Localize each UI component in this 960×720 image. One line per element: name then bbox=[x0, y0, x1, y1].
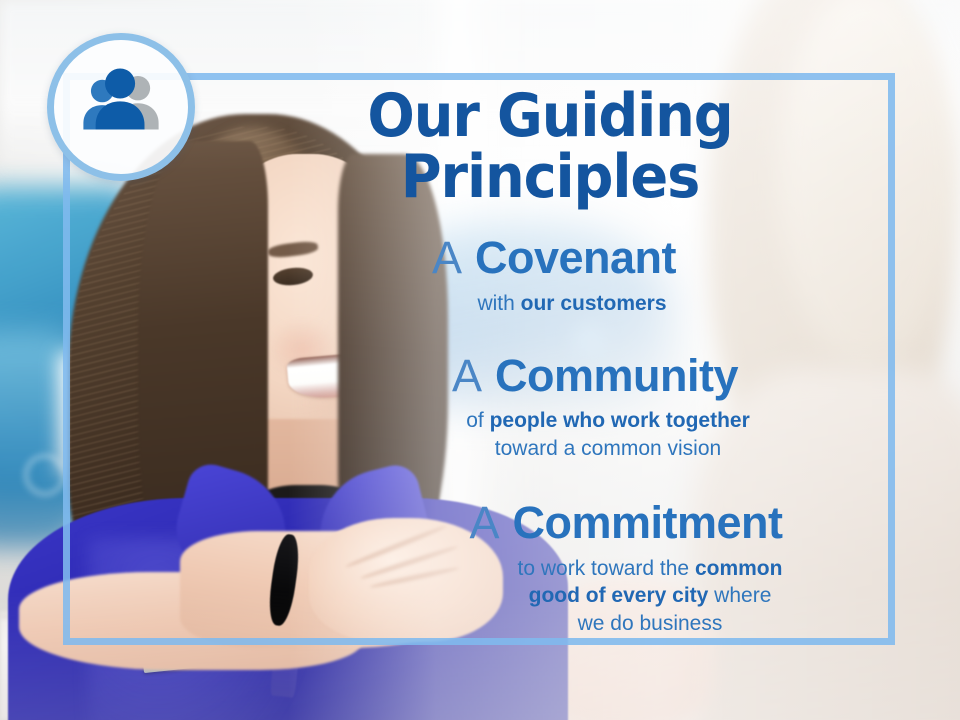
principle-heading: A Commitment bbox=[352, 499, 900, 547]
subtitle-line: with our customers bbox=[244, 290, 900, 318]
people-group-icon bbox=[74, 60, 168, 154]
principle-commitment: A Commitment to work toward the common g… bbox=[200, 499, 900, 638]
subtitle-line: toward a common vision bbox=[316, 435, 900, 463]
subtitle-emphasis: good of every city bbox=[529, 584, 709, 607]
people-badge bbox=[47, 33, 195, 181]
principle-noun: Commitment bbox=[513, 497, 783, 548]
principle-article: A bbox=[469, 497, 500, 548]
page-title: Our Guiding Principles bbox=[225, 86, 876, 208]
principle-article: A bbox=[452, 350, 483, 401]
subtitle-text: where bbox=[708, 584, 771, 607]
subtitle-line: of people who work together bbox=[316, 407, 900, 435]
subtitle-text: with bbox=[477, 292, 520, 315]
subtitle-text: we do business bbox=[578, 612, 723, 635]
principle-heading: A Community bbox=[290, 352, 900, 400]
subtitle-emphasis: our customers bbox=[521, 292, 667, 315]
subtitle-emphasis: people who work together bbox=[490, 409, 750, 432]
subtitle-text: toward a common vision bbox=[495, 437, 721, 460]
principle-subtitle: of people who work together toward a com… bbox=[316, 407, 900, 462]
principle-covenant: A Covenant with our customers bbox=[200, 234, 900, 317]
principle-noun: Covenant bbox=[475, 232, 676, 283]
principle-noun: Community bbox=[495, 350, 738, 401]
principle-heading: A Covenant bbox=[208, 234, 900, 282]
subtitle-line: good of every city where bbox=[400, 582, 900, 610]
principle-article: A bbox=[432, 232, 463, 283]
text-block: Our Guiding Principles A Covenant with o… bbox=[200, 86, 900, 638]
principle-subtitle: to work toward the common good of every … bbox=[400, 555, 900, 638]
subtitle-line: to work toward the common bbox=[400, 555, 900, 583]
principle-subtitle: with our customers bbox=[244, 290, 900, 318]
subtitle-text: to work toward the bbox=[518, 557, 695, 580]
subtitle-emphasis: common bbox=[695, 557, 783, 580]
guiding-principles-graphic: FLOW FLOW bbox=[0, 0, 960, 720]
subtitle-text: of bbox=[466, 409, 489, 432]
principle-community: A Community of people who work together … bbox=[200, 352, 900, 463]
subtitle-line: we do business bbox=[400, 610, 900, 638]
